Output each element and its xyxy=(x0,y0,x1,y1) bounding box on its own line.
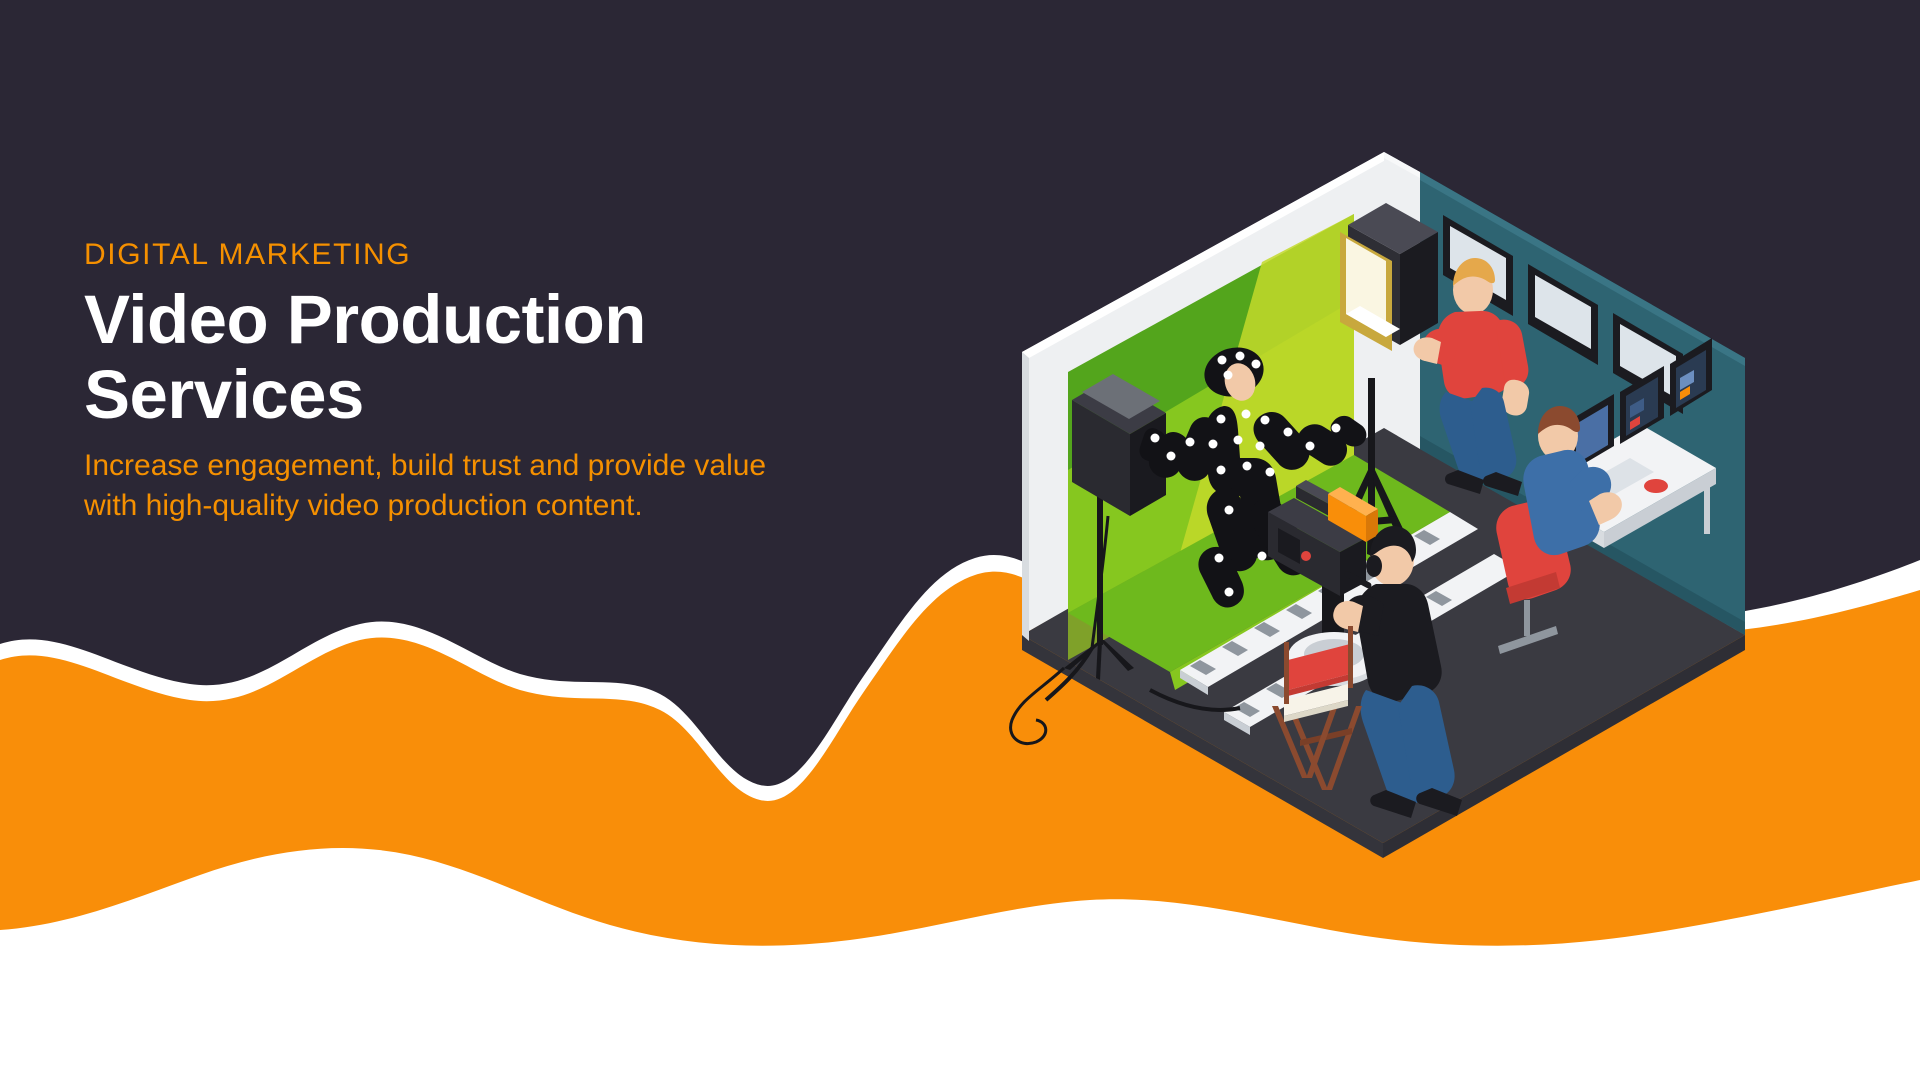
hero-text-block: DIGITAL MARKETING Video Production Servi… xyxy=(84,238,844,526)
isometric-video-production-studio xyxy=(0,0,1920,1080)
page-title: Video Production Services xyxy=(84,283,764,432)
hero-banner: DIGITAL MARKETING Video Production Servi… xyxy=(0,0,1920,1080)
subheading-copy: Increase engagement, build trust and pro… xyxy=(84,446,824,526)
eyebrow-label: DIGITAL MARKETING xyxy=(84,238,844,271)
